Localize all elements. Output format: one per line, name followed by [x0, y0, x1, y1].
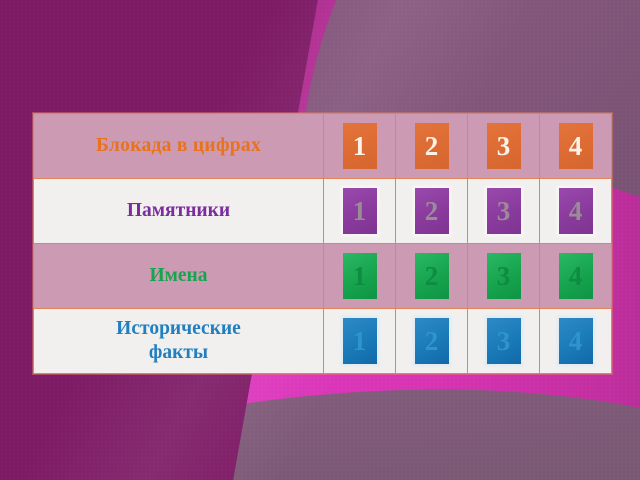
table-row-blockade: Блокада в цифрах 1 2 3 4 — [34, 114, 612, 179]
tile-facts-4[interactable]: 4 — [559, 318, 593, 364]
tile-facts-1[interactable]: 1 — [343, 318, 377, 364]
tile-names-2[interactable]: 2 — [415, 253, 449, 299]
row-label-facts-line1: Исторические — [34, 317, 323, 341]
row-label-blockade: Блокада в цифрах — [34, 114, 324, 179]
cell-blockade-1[interactable]: 1 — [324, 114, 396, 179]
cell-facts-4[interactable]: 4 — [540, 309, 612, 374]
row-label-names-text: Имена — [149, 265, 207, 286]
category-table: Блокада в цифрах 1 2 3 4 Памятники — [33, 113, 612, 374]
cell-names-3[interactable]: 3 — [468, 244, 540, 309]
tile-facts-2[interactable]: 2 — [415, 318, 449, 364]
cell-names-4[interactable]: 4 — [540, 244, 612, 309]
tile-monuments-4[interactable]: 4 — [559, 188, 593, 234]
cell-blockade-4[interactable]: 4 — [540, 114, 612, 179]
tile-blockade-2[interactable]: 2 — [415, 123, 449, 169]
slide-canvas: Блокада в цифрах 1 2 3 4 Памятники — [0, 0, 640, 480]
tile-facts-3[interactable]: 3 — [487, 318, 521, 364]
cell-monuments-2[interactable]: 2 — [396, 179, 468, 244]
cell-names-1[interactable]: 1 — [324, 244, 396, 309]
cell-facts-2[interactable]: 2 — [396, 309, 468, 374]
tile-names-3[interactable]: 3 — [487, 253, 521, 299]
cell-monuments-3[interactable]: 3 — [468, 179, 540, 244]
table-row-facts: Исторические факты 1 2 3 4 — [34, 309, 612, 374]
tile-monuments-3[interactable]: 3 — [487, 188, 521, 234]
cell-monuments-1[interactable]: 1 — [324, 179, 396, 244]
row-label-facts-line2: факты — [34, 341, 323, 365]
tile-blockade-3[interactable]: 3 — [487, 123, 521, 169]
cell-blockade-3[interactable]: 3 — [468, 114, 540, 179]
cell-names-2[interactable]: 2 — [396, 244, 468, 309]
row-label-monuments-text: Памятники — [127, 200, 230, 221]
tile-names-4[interactable]: 4 — [559, 253, 593, 299]
background-bottom-band — [0, 367, 640, 480]
table-row-names: Имена 1 2 3 4 — [34, 244, 612, 309]
row-label-facts: Исторические факты — [34, 309, 324, 374]
cell-monuments-4[interactable]: 4 — [540, 179, 612, 244]
cell-facts-1[interactable]: 1 — [324, 309, 396, 374]
cell-blockade-2[interactable]: 2 — [396, 114, 468, 179]
tile-monuments-1[interactable]: 1 — [343, 188, 377, 234]
row-label-blockade-text: Блокада в цифрах — [96, 135, 261, 156]
tile-names-1[interactable]: 1 — [343, 253, 377, 299]
table-row-monuments: Памятники 1 2 3 4 — [34, 179, 612, 244]
tile-monuments-2[interactable]: 2 — [415, 188, 449, 234]
cell-facts-3[interactable]: 3 — [468, 309, 540, 374]
tile-blockade-4[interactable]: 4 — [559, 123, 593, 169]
row-label-monuments: Памятники — [34, 179, 324, 244]
row-label-names: Имена — [34, 244, 324, 309]
tile-blockade-1[interactable]: 1 — [343, 123, 377, 169]
